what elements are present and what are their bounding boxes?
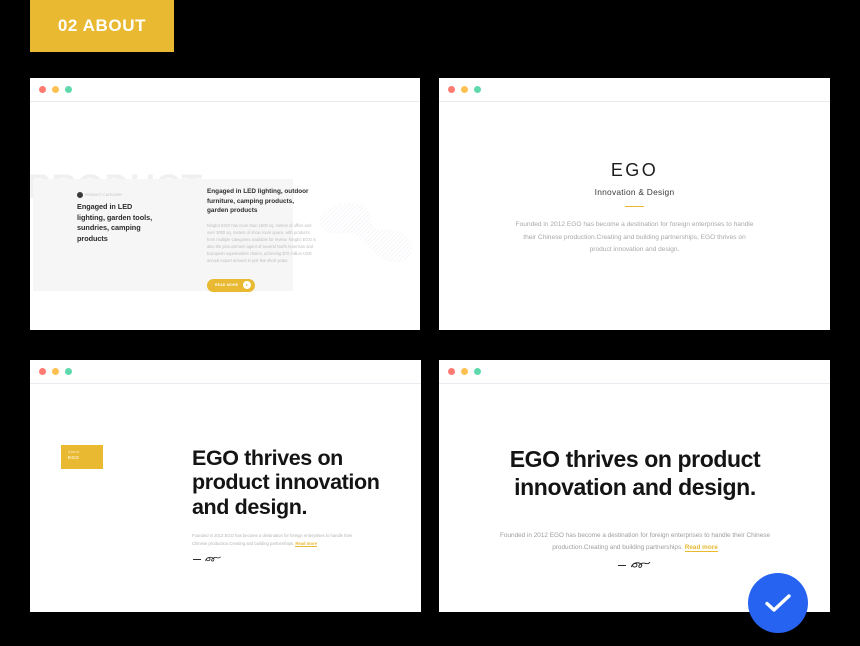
minimize-dot-icon[interactable] [52,86,59,93]
ego-left-paragraph-text: Founded in 2012 EGO has become a destina… [192,533,352,546]
card-ego-left-body: About EGO EGO thrives on product innovat… [30,384,421,612]
browser-chrome-bar [439,78,830,102]
product-right-paragraph: Ningbo EGO has more than 1500 sq. meters… [207,222,317,264]
maximize-dot-icon[interactable] [65,86,72,93]
signature-dash-icon [618,565,626,566]
maximize-dot-icon[interactable] [474,86,481,93]
preview-card-ego-left-aligned[interactable]: About EGO EGO thrives on product innovat… [30,360,421,612]
browser-chrome-bar [30,360,421,384]
card-product-body: PRODUCT PRODUCT CATEGORY Engaged in LED … [30,102,420,330]
ego-centered-paragraph-text: Founded in 2012 EGO has become a destina… [500,532,770,551]
minimize-dot-icon[interactable] [52,368,59,375]
product-category-label: PRODUCT CATEGORY [85,193,122,197]
decorative-blob-shape [313,202,417,266]
maximize-dot-icon[interactable] [474,368,481,375]
ego-left-paragraph: Founded in 2012 EGO has become a destina… [192,532,367,548]
section-badge-label: 02 ABOUT [58,16,146,36]
ego-intro-content: EGO Innovation & Design Founded in 2012 … [439,160,830,256]
read-more-button[interactable]: READ MORE [207,279,255,292]
confirm-fab-button[interactable] [748,573,808,633]
read-more-link[interactable]: Read more [295,541,317,547]
category-bullet-icon [77,192,83,198]
section-badge: 02 ABOUT [30,0,174,52]
product-left-heading: Engaged in LED lighting, garden tools, s… [77,202,159,244]
ego-title: EGO [439,160,830,181]
read-more-link[interactable]: Read more [685,544,718,552]
preview-card-ego-intro[interactable]: EGO Innovation & Design Founded in 2012 … [439,78,830,330]
signature-script-icon [629,560,651,571]
close-dot-icon[interactable] [39,86,46,93]
close-dot-icon[interactable] [39,368,46,375]
ego-centered-paragraph: Founded in 2012 EGO has become a destina… [485,530,785,554]
minimize-dot-icon[interactable] [461,86,468,93]
browser-chrome-bar [30,78,420,102]
logo-line-2: EGO [68,455,103,461]
maximize-dot-icon[interactable] [65,368,72,375]
page-root: 02 ABOUT PRODUCT PRODUCT C [0,0,860,646]
read-more-button-label: READ MORE [215,283,238,287]
signature-script-icon [204,555,221,564]
signature-dash-icon [193,559,201,560]
product-right-column: Engaged in LED lighting, outdoor furnitu… [207,187,317,292]
product-category-row: PRODUCT CATEGORY [77,192,159,198]
arrow-right-icon [243,281,251,289]
browser-chrome-bar [439,360,830,384]
signature-mark [439,560,830,571]
card-ego-intro-body: EGO Innovation & Design Founded in 2012 … [439,102,830,330]
signature-mark [193,555,221,564]
ego-paragraph: Founded in 2012 EGO has become a destina… [515,219,755,256]
ego-subtitle: Innovation & Design [439,187,830,197]
product-left-column: PRODUCT CATEGORY Engaged in LED lighting… [77,192,159,244]
check-icon [763,591,793,615]
close-dot-icon[interactable] [448,86,455,93]
preview-card-product[interactable]: PRODUCT PRODUCT CATEGORY Engaged in LED … [30,78,420,330]
close-dot-icon[interactable] [448,368,455,375]
ego-left-heading: EGO thrives on product innovation and de… [192,446,392,519]
ego-centered-heading: EGO thrives on product innovation and de… [496,446,774,501]
product-right-heading: Engaged in LED lighting, outdoor furnitu… [207,187,317,216]
about-ego-logo-badge: About EGO [61,445,103,469]
ego-divider [625,206,644,207]
minimize-dot-icon[interactable] [461,368,468,375]
